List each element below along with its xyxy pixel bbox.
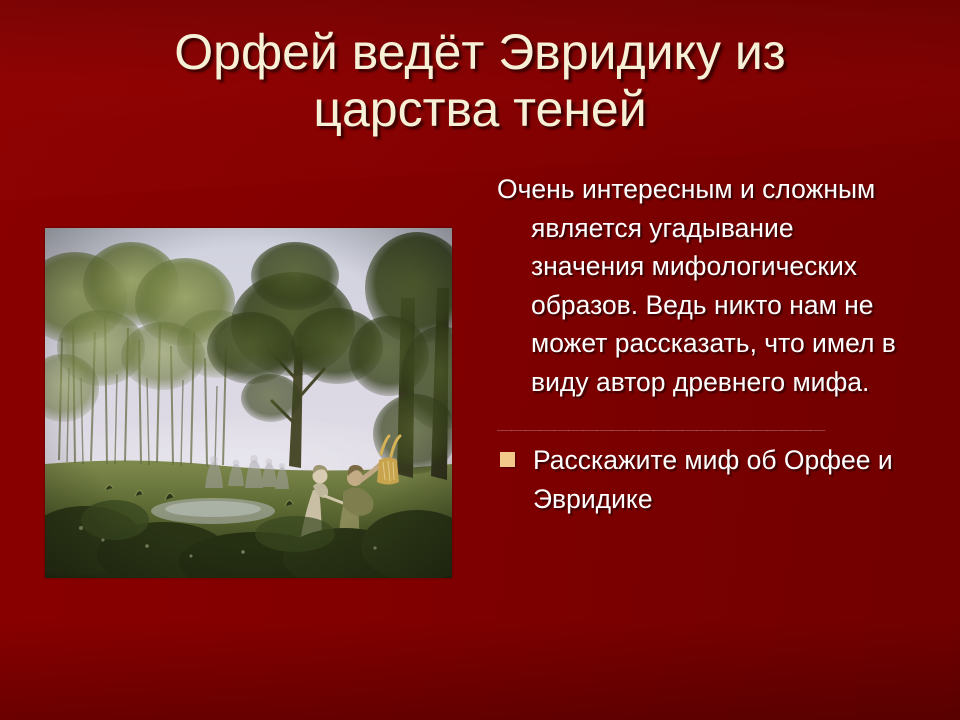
list-item[interactable]: Расскажите миф об Орфее и Эвридике bbox=[497, 441, 909, 518]
section-divider: _______________________ bbox=[497, 405, 909, 431]
body-paragraph-rest: сложным является угадывание значения миф… bbox=[531, 174, 896, 397]
body-paragraph: Очень интересным и сложным является угад… bbox=[497, 170, 909, 401]
square-bullet-icon bbox=[500, 452, 515, 467]
presentation-slide: Орфей ведёт Эвридику из царства теней bbox=[0, 0, 960, 720]
slide-body: Очень интересным и сложным является угад… bbox=[497, 170, 909, 518]
slide-title: Орфей ведёт Эвридику из царства теней bbox=[60, 24, 900, 138]
body-paragraph-lead: Очень интересным и bbox=[497, 174, 755, 204]
list-item-label: Расскажите миф об Орфее и Эвридике bbox=[533, 441, 909, 518]
painting-artwork bbox=[45, 228, 452, 578]
orpheus-leading-eurydice-painting bbox=[45, 228, 452, 578]
